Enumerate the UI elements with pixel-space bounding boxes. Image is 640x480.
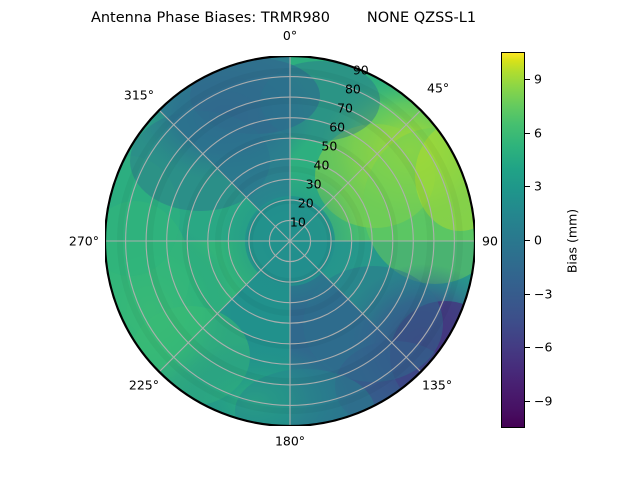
colorbar-tick-mark-4	[525, 294, 530, 295]
colorbar-tick-label-0: 9	[534, 71, 542, 86]
figure-canvas: Antenna Phase Biases: TRMR980 NONE QZSS-…	[0, 0, 640, 480]
colorbar-tick-mark-0	[525, 79, 530, 80]
colorbar[interactable]: 9630−3−6−9	[501, 52, 525, 428]
polar-axes[interactable]	[105, 56, 475, 426]
colorbar-tick-mark-1	[525, 133, 530, 134]
theta-tick-45: 45°	[427, 81, 449, 96]
theta-tick-225: 225°	[129, 378, 159, 393]
colorbar-tick-mark-3	[525, 240, 530, 241]
radial-tick-40: 40	[314, 158, 330, 173]
radial-tick-80: 80	[345, 82, 361, 97]
theta-tick-135: 135°	[422, 378, 452, 393]
radial-tick-70: 70	[337, 101, 353, 116]
colorbar-tick-label-1: 6	[534, 125, 542, 140]
colorbar-tick-label-4: −3	[534, 286, 552, 301]
theta-tick-270: 270°	[69, 234, 99, 249]
radial-tick-30: 30	[306, 177, 322, 192]
colorbar-tick-label-5: −6	[534, 340, 552, 355]
radial-tick-90: 90	[353, 63, 369, 78]
colorbar-tick-mark-5	[525, 347, 530, 348]
theta-tick-315: 315°	[124, 88, 154, 103]
colorbar-axis-label: Bias (mm)	[565, 209, 580, 273]
polar-plot-svg	[105, 56, 475, 426]
theta-tick-0: 0°	[283, 28, 297, 43]
colorbar-tick-label-3: 0	[534, 233, 542, 248]
chart-title: Antenna Phase Biases: TRMR980 NONE QZSS-…	[0, 10, 567, 26]
radial-tick-10: 10	[290, 215, 306, 230]
colorbar-tick-mark-6	[525, 401, 530, 402]
radial-tick-20: 20	[298, 196, 314, 211]
colorbar-tick-label-2: 3	[534, 179, 542, 194]
colorbar-tick-mark-2	[525, 186, 530, 187]
colorbar-tick-label-6: −9	[534, 394, 552, 409]
colorbar-gradient	[501, 52, 525, 428]
radial-tick-60: 60	[329, 120, 345, 135]
polar-grid	[105, 56, 475, 426]
radial-tick-50: 50	[321, 139, 337, 154]
theta-tick-90: 90	[482, 234, 498, 249]
theta-tick-180: 180°	[275, 434, 305, 449]
